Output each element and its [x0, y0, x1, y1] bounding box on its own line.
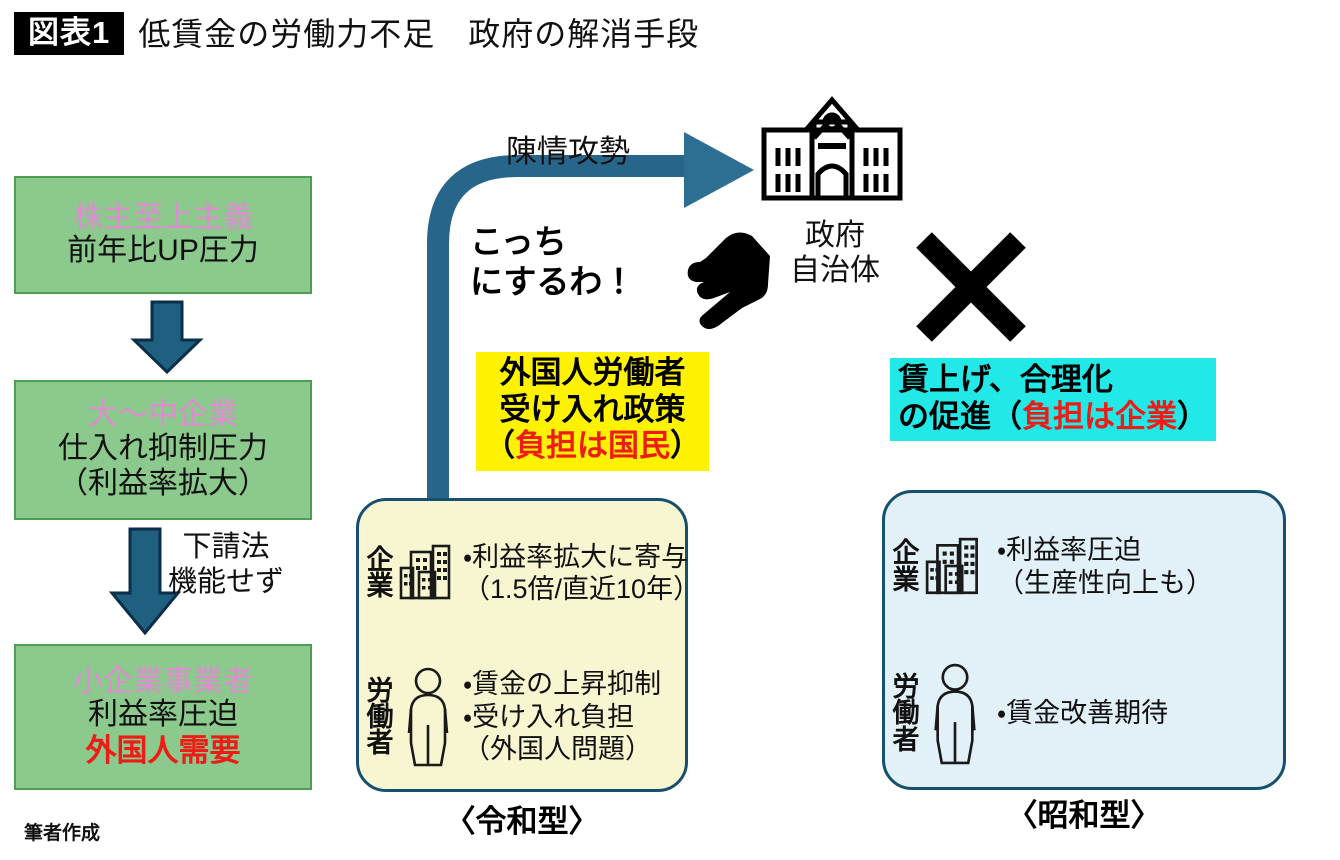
- panel-reiwa-worker-line-1: ・賃金の上昇抑制: [463, 668, 700, 700]
- figure-number-badge: 図表1: [14, 12, 124, 55]
- label-char: 業: [363, 573, 397, 599]
- vertical-label-company: 企 業: [889, 540, 923, 592]
- panel-showa-actor-column: 企 業: [885, 493, 997, 787]
- cyan-line-2: の促進（負担は企業）: [898, 398, 1208, 435]
- panel-showa-actor-company: 企 業: [885, 493, 997, 640]
- government-label-line-1: 政府: [770, 218, 900, 253]
- speech-line-1: こっち: [470, 222, 635, 262]
- panel-reiwa-worker-line-2: ・受け入れ負担: [463, 701, 700, 733]
- flow-box-line: 前年比UP圧力: [16, 234, 310, 269]
- vertical-label-worker: 労 働 者: [363, 678, 397, 757]
- cyan-policy-highlight: 賃上げ、合理化 の促進（負担は企業）: [890, 358, 1216, 441]
- yellow-paren-close: ）: [670, 428, 701, 463]
- pointing-hand-icon: [672, 222, 788, 338]
- flow-box-shareholder-primacy: 株主至上主義 前年比UP圧力: [14, 176, 312, 294]
- panel-reiwa-company-line-1: ・利益率拡大に寄与: [463, 541, 700, 573]
- vertical-label-worker: 労 働 者: [889, 674, 923, 753]
- person-icon: [923, 661, 987, 767]
- panel-reiwa-actor-company: 企 業: [359, 501, 463, 645]
- source-credit: 筆者作成: [24, 818, 100, 845]
- flow-box-line: 仕入れ抑制圧力: [16, 432, 310, 467]
- yellow-line-2: 受け入れ政策: [484, 392, 701, 429]
- label-char: 企: [363, 547, 397, 573]
- government-building-icon: [750, 82, 914, 210]
- down-arrow-icon-1: [130, 300, 204, 374]
- panel-reiwa-company-line-2: （1.5倍/直近10年）: [463, 573, 700, 605]
- panel-showa-actor-worker: 労 働 者: [885, 640, 997, 787]
- yellow-burden-text: 負担は国民: [515, 428, 670, 463]
- label-char: 者: [363, 730, 397, 756]
- panel-reiwa: 企 業: [356, 498, 688, 792]
- petition-label: 陳情攻勢: [506, 126, 630, 171]
- cyan-burden-text: 負担は企業: [1022, 399, 1177, 434]
- cyan-line-1: 賃上げ、合理化: [898, 361, 1208, 398]
- panel-showa-company-line-2: （生産性向上も）: [997, 567, 1279, 599]
- panel-showa-caption: 〈昭和型〉: [882, 790, 1286, 835]
- panel-reiwa-worker-line-3: （外国人問題）: [463, 733, 700, 765]
- cross-mark-icon: [912, 228, 1030, 346]
- cyan-paren-close: ）: [1177, 399, 1208, 434]
- panel-reiwa-actor-worker: 労 働 者: [359, 645, 463, 789]
- person-icon: [397, 665, 459, 769]
- buildings-icon: [397, 542, 461, 604]
- government-label-line-2: 自治体: [770, 253, 900, 288]
- yellow-line-3: （負担は国民）: [484, 428, 701, 465]
- flow-box-large-mid-companies: 大～中企業 仕入れ抑制圧力 （利益率拡大）: [14, 380, 312, 520]
- cyan-prefix: の促進（: [898, 399, 1022, 434]
- flow-box-heading: 小企業事業者: [16, 665, 310, 699]
- panel-showa: 企 業: [882, 490, 1286, 790]
- title-text: 低賃金の労働力不足 政府の解消手段: [138, 18, 699, 50]
- panel-reiwa-actor-column: 企 業: [359, 501, 463, 789]
- label-char: 労: [889, 674, 923, 700]
- flow-box-red-line: 外国人需要: [16, 733, 310, 769]
- yellow-paren-open: （: [484, 428, 515, 463]
- label-char: 労: [363, 678, 397, 704]
- vertical-label-company: 企 業: [363, 547, 397, 599]
- panel-showa-worker-line-1: ・賃金改善期待: [997, 697, 1279, 729]
- speech-line-2: にするわ！: [470, 262, 635, 302]
- buildings-icon: [923, 535, 989, 599]
- government-label: 政府 自治体: [770, 218, 900, 289]
- note-line-2: 機能せず: [126, 565, 326, 600]
- subcontract-law-note: 下請法 機能せず: [126, 530, 326, 601]
- label-char: 業: [889, 567, 923, 593]
- note-line-1: 下請法: [126, 530, 326, 565]
- yellow-policy-highlight: 外国人労働者 受け入れ政策 （負担は国民）: [476, 352, 709, 471]
- panel-showa-company-line-1: ・利益率圧迫: [997, 534, 1279, 566]
- panel-showa-body: ・利益率圧迫 （生産性向上も） ・賃金改善期待: [997, 493, 1283, 787]
- label-char: 企: [889, 540, 923, 566]
- label-char: 者: [889, 727, 923, 753]
- flow-box-line: 利益率圧迫: [16, 698, 310, 733]
- speech-text: こっち にするわ！: [470, 222, 635, 303]
- page-title: 図表1 低賃金の労働力不足 政府の解消手段: [14, 12, 699, 55]
- label-char: 働: [363, 704, 397, 730]
- flow-box-line: （利益率拡大）: [16, 467, 310, 502]
- flow-box-small-businesses: 小企業事業者 利益率圧迫 外国人需要: [14, 644, 312, 790]
- panel-reiwa-body: ・利益率拡大に寄与 （1.5倍/直近10年） ・賃金の上昇抑制 ・受け入れ負担 …: [463, 501, 704, 789]
- label-char: 働: [889, 700, 923, 726]
- yellow-line-1: 外国人労働者: [484, 355, 701, 392]
- flow-box-heading: 株主至上主義: [16, 201, 310, 235]
- panel-reiwa-caption: 〈令和型〉: [356, 796, 688, 841]
- flow-box-heading: 大～中企業: [16, 398, 310, 432]
